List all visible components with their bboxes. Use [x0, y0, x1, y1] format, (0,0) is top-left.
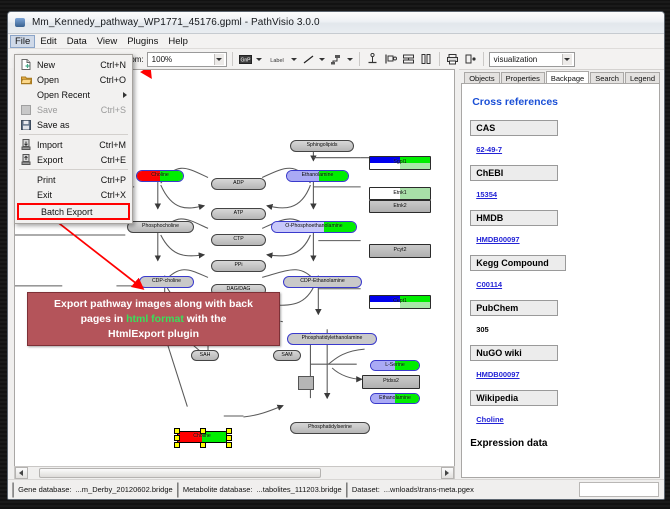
submenu-arrow-icon: [123, 92, 127, 98]
canvas-hscrollbar[interactable]: [14, 466, 455, 480]
label-tool-icon[interactable]: Label: [266, 52, 288, 67]
menu-edit[interactable]: Edit: [35, 35, 61, 48]
open-folder-icon: [15, 75, 37, 85]
xref-header-pubchem: PubChem: [470, 300, 558, 316]
xref-value-nugo-wiki[interactable]: HMDB00097: [476, 370, 519, 379]
import-icon: [15, 139, 37, 150]
callout-line-2-pre: pages in: [81, 313, 127, 325]
gene-product-icon[interactable]: GnP: [238, 52, 253, 67]
same-height-icon[interactable]: [401, 52, 416, 67]
file-menu-item-import[interactable]: Import Ctrl+M: [15, 137, 132, 152]
status-sep-2: |: [342, 481, 352, 499]
status-sep-0: |: [8, 481, 18, 499]
zoom-combo[interactable]: 100%: [147, 52, 227, 67]
file-menu-item-open-recent[interactable]: Open Recent: [15, 87, 132, 102]
window-title: Mm_Kennedy_pathway_WP1771_45176.gpml - P…: [32, 17, 320, 28]
file-menu-separator-1: [19, 134, 128, 135]
file-menu-item-print[interactable]: Print Ctrl+P: [15, 172, 132, 187]
svg-text:Label: Label: [270, 58, 283, 64]
align-top-icon[interactable]: [365, 52, 380, 67]
file-menu-item-exit[interactable]: Exit Ctrl+X: [15, 187, 132, 202]
line-dropdown-icon[interactable]: [319, 52, 326, 66]
xref-value-chebi[interactable]: 15354: [476, 190, 497, 199]
xref-header-cas: CAS: [470, 120, 558, 136]
xref-value-hmdb[interactable]: HMDB00097: [476, 235, 519, 244]
file-menu-separator-2: [19, 169, 128, 170]
toolbar-separator-3: [439, 52, 440, 66]
xref-value-wikipedia[interactable]: Choline: [476, 415, 504, 424]
callout-line-1: Export pathway images along with back: [54, 298, 253, 310]
file-menu-item-export[interactable]: Export Ctrl+E: [15, 152, 132, 167]
file-menu-item-new[interactable]: New Ctrl+N: [15, 57, 132, 72]
status-gene-db-value: ...m_Derby_20120602.bridge: [72, 485, 173, 494]
chevron-down-icon[interactable]: [214, 54, 224, 65]
visualization-chevron-down-icon[interactable]: [562, 54, 572, 65]
callout-line-2-highlight: html format: [126, 313, 184, 325]
file-menu-dropdown[interactable]: New Ctrl+N Open Ctrl+O Open Recent Save …: [14, 54, 133, 224]
visualization-combo[interactable]: visualization: [489, 52, 575, 67]
menu-plugins[interactable]: Plugins: [122, 35, 163, 48]
pathvisio-app-icon: [14, 16, 27, 29]
file-menu-item-batch-export[interactable]: Batch Export: [17, 203, 130, 220]
status-dataset-label: Dataset:: [352, 485, 380, 494]
status-dataset-value: ...wnloads\trans-meta.pgex: [380, 485, 474, 494]
xref-value-pubchem: 305: [476, 325, 489, 334]
file-menu-item-save[interactable]: Save Ctrl+S: [15, 102, 132, 117]
xref-value-kegg-compound[interactable]: C00114: [476, 280, 502, 289]
same-width-icon[interactable]: [419, 52, 434, 67]
expression-data-heading: Expression data: [470, 438, 651, 449]
toolbar-separator: [232, 52, 233, 66]
svg-text:GnP: GnP: [240, 57, 251, 63]
pathvisio-window: Mm_Kennedy_pathway_WP1771_45176.gpml - P…: [7, 11, 665, 500]
status-extra-box: [579, 482, 659, 497]
status-metabolite-db-label: Metabolite database:: [183, 485, 253, 494]
backpage-panel: Cross references CAS 62-49-7 ChEBI 15354…: [461, 83, 660, 478]
callout-line-3: HtmlExport plugin: [108, 328, 199, 340]
hscroll-thumb[interactable]: [39, 468, 321, 478]
status-metabolite-db-value: ...tabolites_111203.bridge: [253, 485, 342, 494]
properties-icon[interactable]: [463, 52, 478, 67]
label-dropdown-icon[interactable]: [291, 52, 298, 66]
toolbar-separator-4: [483, 52, 484, 66]
line-tool-icon[interactable]: [301, 52, 316, 67]
save-disk-icon: [15, 105, 37, 115]
zoom-value: 100%: [152, 55, 172, 64]
toolbar-separator-2: [359, 52, 360, 66]
interaction-tool-icon[interactable]: [329, 52, 344, 67]
menu-help[interactable]: Help: [163, 35, 193, 48]
visualization-value: visualization: [494, 55, 538, 64]
save-as-icon: [15, 120, 37, 130]
scroll-left-icon[interactable]: [15, 467, 28, 479]
interaction-dropdown-icon[interactable]: [347, 52, 354, 66]
xref-header-hmdb: HMDB: [470, 210, 558, 226]
xref-header-kegg-compound: Kegg Compound: [470, 255, 566, 271]
side-panel-area: Objects Properties Backpage Search Legen…: [459, 68, 664, 480]
annotation-callout: Export pathway images along with back pa…: [27, 292, 280, 346]
align-left-icon[interactable]: [383, 52, 398, 67]
file-menu-item-save-as[interactable]: Save as: [15, 117, 132, 132]
menu-bar: File Edit Data View Plugins Help: [8, 34, 664, 49]
file-menu-item-open[interactable]: Open Ctrl+O: [15, 72, 132, 87]
menu-view[interactable]: View: [92, 35, 122, 48]
print-icon[interactable]: [445, 52, 460, 67]
export-icon: [15, 154, 37, 165]
xref-header-wikipedia: Wikipedia: [470, 390, 558, 406]
xref-header-nugo-wiki: NuGO wiki: [470, 345, 558, 361]
xref-value-cas[interactable]: 62-49-7: [476, 145, 502, 154]
callout-line-2-post: with the: [184, 313, 227, 325]
menu-data[interactable]: Data: [62, 35, 92, 48]
status-gene-db-label: Gene database:: [18, 485, 71, 494]
scroll-right-icon[interactable]: [441, 467, 454, 479]
cross-references-heading: Cross references: [472, 96, 651, 108]
menu-file[interactable]: File: [10, 35, 35, 48]
title-bar: Mm_Kennedy_pathway_WP1771_45176.gpml - P…: [8, 12, 664, 34]
status-bar: | Gene database: ...m_Derby_20120602.bri…: [8, 479, 664, 499]
xref-header-chebi: ChEBI: [470, 165, 558, 181]
new-document-icon: [15, 59, 37, 70]
gene-product-dropdown-icon[interactable]: [256, 52, 263, 66]
status-sep-1: |: [173, 481, 183, 499]
